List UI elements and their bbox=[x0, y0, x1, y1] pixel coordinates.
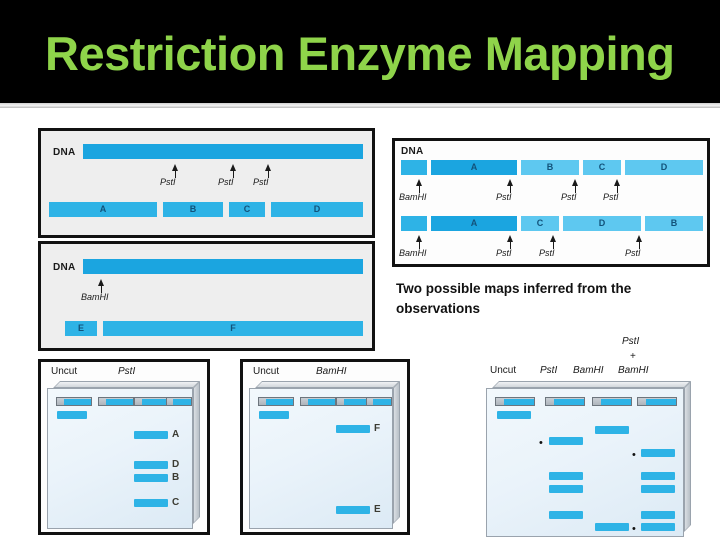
gel-lane4-label-plus: + bbox=[630, 351, 636, 362]
gel-well-2 bbox=[545, 397, 585, 406]
gel-body-pstI: A D B C bbox=[47, 388, 193, 529]
map1-arrow-bamHI bbox=[416, 179, 422, 186]
gel-band-lane4-5 bbox=[641, 523, 675, 531]
gel-well-3 bbox=[592, 397, 632, 406]
gel-band-label-D: D bbox=[172, 459, 179, 470]
panel-pstI-digest: DNA PstI PstI PstI A B C D bbox=[38, 128, 375, 238]
gel-well-4 bbox=[637, 397, 677, 406]
maps-caption: Two possible maps inferred from the obse… bbox=[396, 279, 696, 319]
banner-divider bbox=[0, 103, 720, 108]
well-fill-4 bbox=[173, 399, 191, 405]
gel-band-lane2-D bbox=[549, 472, 583, 480]
gel-band-lane2-A bbox=[549, 437, 583, 445]
gel-band-lane3-F bbox=[595, 426, 629, 434]
map2-fragment-C: C bbox=[521, 216, 559, 231]
map1-arrow-pstI-2 bbox=[572, 179, 578, 186]
map2-site-bamHI: BamHI bbox=[399, 248, 427, 258]
map1-site-pstI-1: PstI bbox=[496, 192, 512, 202]
gel-band-A bbox=[134, 431, 168, 439]
gel-well-2 bbox=[98, 397, 134, 406]
fragment-F: F bbox=[103, 321, 363, 336]
gel-top-edge bbox=[492, 381, 691, 388]
map2-site-pstI-2: PstI bbox=[539, 248, 555, 258]
well-fill-1 bbox=[266, 399, 293, 405]
map2-arrow-pstI-2 bbox=[550, 235, 556, 242]
gel-band-lane4-2 bbox=[641, 472, 675, 480]
map2-fragment-A: A bbox=[431, 216, 517, 231]
gel-well-1 bbox=[258, 397, 294, 406]
cut-label-pstI-1: PstI bbox=[160, 177, 176, 187]
well-fill-4 bbox=[646, 399, 676, 405]
gel-band-label-C: C bbox=[172, 497, 179, 508]
gel-band-F bbox=[336, 425, 370, 433]
well-fill-3 bbox=[142, 399, 169, 405]
map2-fragment-B: B bbox=[645, 216, 703, 231]
gel-band-lane4-1 bbox=[641, 449, 675, 457]
cut-label-bamHI: BamHI bbox=[81, 292, 109, 302]
map1-fragment-D: D bbox=[625, 160, 703, 175]
gel-band-lane3-E bbox=[595, 523, 629, 531]
gel-band-label-B: B bbox=[172, 472, 179, 483]
gel-lane-label-pstI: PstI bbox=[118, 366, 135, 377]
well-fill-4 bbox=[373, 399, 391, 405]
dna-label: DNA bbox=[53, 147, 76, 158]
gel-lane2-label-pstI: PstI bbox=[540, 365, 557, 376]
fragment-E: E bbox=[65, 321, 97, 336]
cut-arrow-pstI-2 bbox=[230, 164, 236, 171]
gel-lane1-label-uncut: Uncut bbox=[490, 365, 516, 376]
map1-arrow-pstI-3 bbox=[614, 179, 620, 186]
well-fill-1 bbox=[64, 399, 91, 405]
well-fill-1 bbox=[504, 399, 534, 405]
cut-label-pstI-3: PstI bbox=[253, 177, 269, 187]
gel-band-B bbox=[134, 474, 168, 482]
map1-fragment-0 bbox=[401, 160, 427, 175]
gel-lane4-label-top: PstI bbox=[622, 336, 639, 347]
cut-label-pstI-2: PstI bbox=[218, 177, 234, 187]
dna-strand-bar bbox=[83, 144, 363, 159]
gel-band-E bbox=[336, 506, 370, 514]
gel-well-3 bbox=[134, 397, 170, 406]
fragment-A: A bbox=[49, 202, 157, 217]
panel-gel-double-digest: PstI + Uncut PstI BamHI BamHI • • bbox=[478, 336, 703, 536]
gel-well-1 bbox=[56, 397, 92, 406]
gel-band-lane4-3 bbox=[641, 485, 675, 493]
map2-arrow-bamHI bbox=[416, 235, 422, 242]
gel-body-bamHI: F E bbox=[249, 388, 393, 529]
map2-fragment-D: D bbox=[563, 216, 641, 231]
map1-arrow-pstI-1 bbox=[507, 179, 513, 186]
well-fill-2 bbox=[106, 399, 133, 405]
gel-lane3-label-bamHI: BamHI bbox=[573, 365, 604, 376]
gel-band-uncut bbox=[259, 411, 289, 419]
gel-band-label-A: A bbox=[172, 429, 179, 440]
map1-fragment-B: B bbox=[521, 160, 579, 175]
map2-fragment-0 bbox=[401, 216, 427, 231]
gel-band-lane1-uncut bbox=[497, 411, 531, 419]
panel-gel-bamHI: Uncut BamHI F E bbox=[240, 359, 410, 535]
fragment-D: D bbox=[271, 202, 363, 217]
cut-arrow-pstI-1 bbox=[172, 164, 178, 171]
dna-label: DNA bbox=[53, 262, 76, 273]
gel-well-4 bbox=[366, 397, 392, 406]
panel-gel-pstI: Uncut PstI A D B C bbox=[38, 359, 210, 535]
gel-well-4 bbox=[166, 397, 192, 406]
panel-bamHI-digest: DNA BamHI E F bbox=[38, 241, 375, 351]
map1-fragment-A: A bbox=[431, 160, 517, 175]
gel-band-C bbox=[134, 499, 168, 507]
gel-well-2 bbox=[300, 397, 336, 406]
gel-well-1 bbox=[495, 397, 535, 406]
map1-site-bamHI: BamHI bbox=[399, 192, 427, 202]
gel-body-double: • • • bbox=[486, 388, 684, 537]
gel-top-edge bbox=[53, 381, 200, 388]
dna-label: DNA bbox=[401, 146, 424, 157]
map1-site-pstI-2: PstI bbox=[561, 192, 577, 202]
well-fill-2 bbox=[554, 399, 584, 405]
gel-band-uncut bbox=[57, 411, 87, 419]
map2-arrow-pstI-3 bbox=[636, 235, 642, 242]
map1-fragment-C: C bbox=[583, 160, 621, 175]
cut-arrow-pstI-3 bbox=[265, 164, 271, 171]
page-title: Restriction Enzyme Mapping bbox=[45, 30, 705, 78]
gel-side-edge bbox=[393, 381, 400, 524]
gel-lane4-label-bamHI: BamHI bbox=[618, 365, 649, 376]
dna-strand-bar bbox=[83, 259, 363, 274]
gel-star-lane4-bottom: • bbox=[632, 524, 636, 535]
gel-band-label-E: E bbox=[374, 504, 381, 515]
panel-inferred-maps: DNA A B C D BamHI PstI PstI PstI A C D B… bbox=[392, 138, 710, 267]
cut-arrow-bamHI bbox=[98, 279, 104, 286]
gel-band-lane4-4 bbox=[641, 511, 675, 519]
gel-side-edge bbox=[193, 381, 200, 524]
well-fill-2 bbox=[308, 399, 335, 405]
gel-top-edge bbox=[255, 381, 400, 388]
map2-site-pstI-1: PstI bbox=[496, 248, 512, 258]
map2-site-pstI-3: PstI bbox=[625, 248, 641, 258]
gel-band-D bbox=[134, 461, 168, 469]
fragment-B: B bbox=[163, 202, 223, 217]
title-banner: Restriction Enzyme Mapping bbox=[0, 0, 720, 103]
gel-lane-label-bamHI: BamHI bbox=[316, 366, 347, 377]
fragment-C: C bbox=[229, 202, 265, 217]
gel-band-lane2-B bbox=[549, 485, 583, 493]
map1-site-pstI-3: PstI bbox=[603, 192, 619, 202]
well-fill-3 bbox=[601, 399, 631, 405]
map2-arrow-pstI-1 bbox=[507, 235, 513, 242]
gel-star-lane2: • bbox=[539, 438, 543, 449]
gel-lane-label-uncut: Uncut bbox=[253, 366, 279, 377]
gel-side-edge bbox=[684, 381, 691, 532]
gel-band-lane2-C bbox=[549, 511, 583, 519]
gel-star-lane4-top: • bbox=[632, 450, 636, 461]
gel-lane-label-uncut: Uncut bbox=[51, 366, 77, 377]
gel-band-label-F: F bbox=[374, 423, 380, 434]
